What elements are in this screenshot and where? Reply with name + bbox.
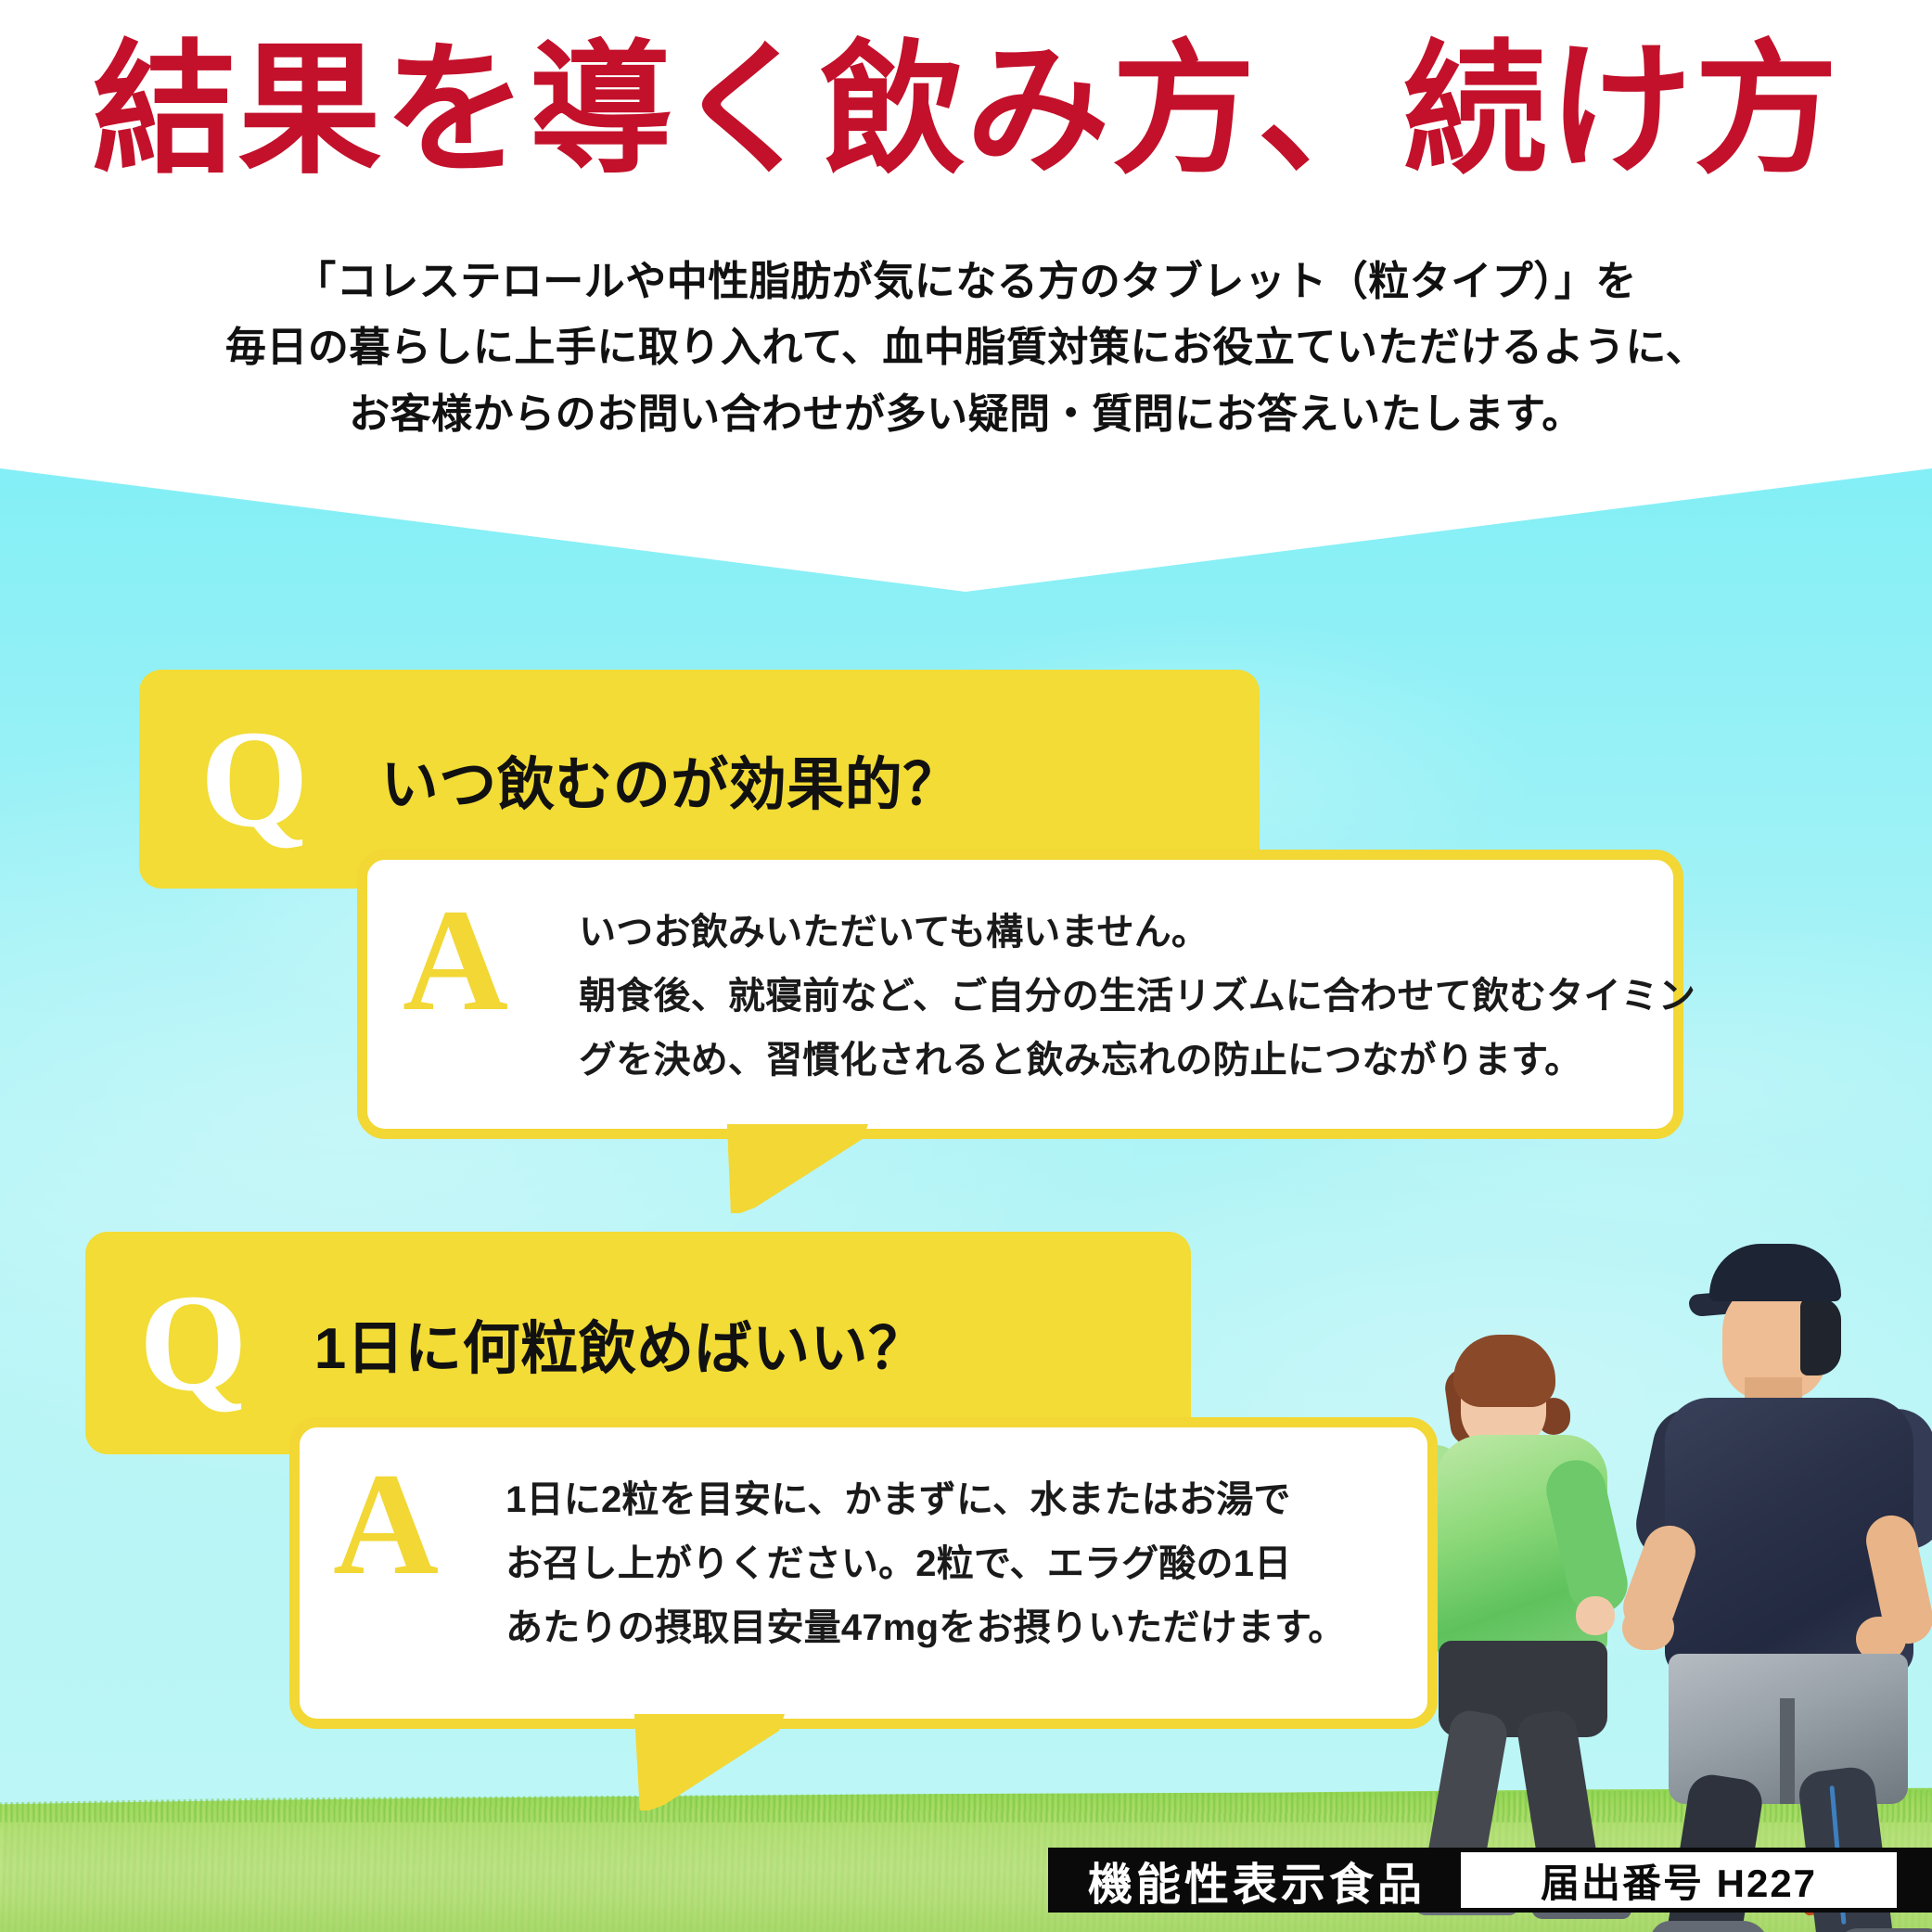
notification-number: 届出番号 H227 [1461, 1852, 1897, 1908]
man-left-shoe [1650, 1921, 1769, 1932]
man-left-hand [1622, 1606, 1674, 1650]
infographic-page: 結果を導く飲み方、続け方 「コレステロールや中性脂肪が気になる方のタブレット（粒… [0, 0, 1932, 1932]
man-right-shoe [1836, 1928, 1932, 1932]
answer-box-1[interactable]: A いつお飲みいただいても構いません。 朝食後、就寝前など、ご自分の生活リズムに… [357, 850, 1683, 1139]
status-badge: 機能性表示食品 届出番号 H227 [1048, 1848, 1932, 1913]
question-letter-1: Q [200, 710, 309, 849]
answer-1-line-1: いつお飲みいただいても構いません。 [579, 901, 1695, 965]
answer-text-2: 1日に2粒を目安に、かまずに、水またはお湯で お召し上がりください。2粒で、エラ… [505, 1468, 1345, 1659]
subtitle-line-2: 毎日の暮らしに上手に取り入れて、血中脂質対策にお役立ていただけるように、 [0, 314, 1932, 380]
header-panel: 結果を導く飲み方、続け方 「コレステロールや中性脂肪が気になる方のタブレット（粒… [0, 0, 1932, 594]
answer-tail-1 [705, 1124, 909, 1226]
answer-letter-1: A [403, 891, 508, 1030]
answer-2-line-3: あたりの摂取目安量47mgをお摂りいただけます。 [505, 1596, 1345, 1660]
page-title: 結果を導く飲み方、続け方 [0, 35, 1932, 186]
answer-2-line-1: 1日に2粒を目安に、かまずに、水またはお湯で [505, 1468, 1345, 1532]
woman-hair [1453, 1335, 1555, 1407]
answer-box-2[interactable]: A 1日に2粒を目安に、かまずに、水またはお湯で お召し上がりください。2粒で、… [289, 1417, 1438, 1729]
answer-2-line-2: お召し上がりください。2粒で、エラグ酸の1日 [505, 1532, 1345, 1596]
answer-1-line-3: グを決め、習慣化されると飲み忘れの防止につながります。 [579, 1029, 1695, 1093]
answer-text-1: いつお飲みいただいても構いません。 朝食後、就寝前など、ご自分の生活リズムに合わ… [579, 901, 1695, 1092]
subtitle-line-1: 「コレステロールや中性脂肪が気になる方のタブレット（粒タイプ）」を [0, 249, 1932, 314]
man-hair [1800, 1298, 1841, 1375]
answer-1-line-2: 朝食後、就寝前など、ご自分の生活リズムに合わせて飲むタイミン [579, 965, 1695, 1029]
page-subtitle: 「コレステロールや中性脂肪が気になる方のタブレット（粒タイプ）」を 毎日の暮らし… [0, 249, 1932, 447]
subtitle-line-3: お客様からのお問い合わせが多い疑問・質問にお答えいたします。 [0, 381, 1932, 447]
answer-tail-2 [612, 1714, 825, 1825]
woman-right-fist [1576, 1596, 1615, 1635]
footer-label: 機能性表示食品 [1053, 1852, 1461, 1908]
answer-letter-2: A [333, 1455, 439, 1594]
question-text-2: 1日に何粒飲めばいい？ [314, 1301, 927, 1385]
question-letter-2: Q [139, 1273, 248, 1413]
man-cap [1709, 1244, 1841, 1301]
man-shorts-slit [1780, 1698, 1795, 1804]
question-text-1: いつ飲むのが効果的？ [381, 737, 961, 821]
